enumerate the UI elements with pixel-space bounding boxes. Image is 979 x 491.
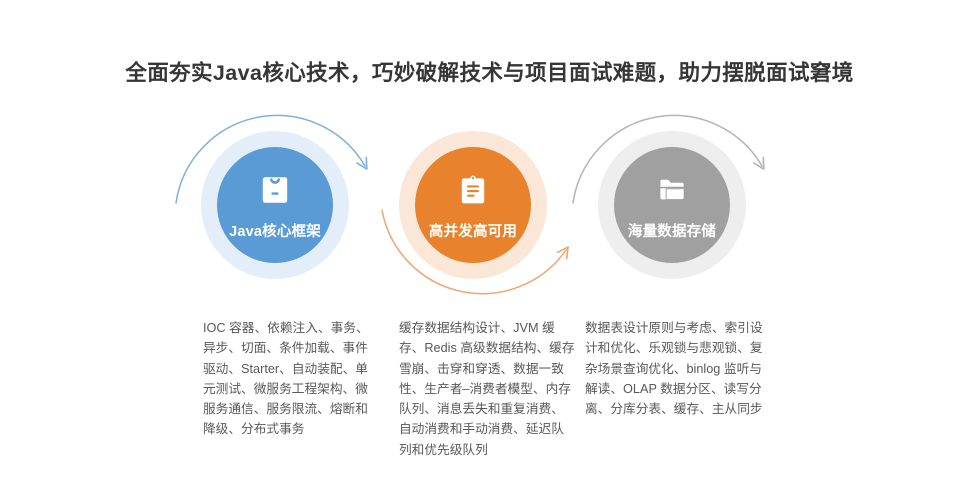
- infographic-canvas: 全面夯实Java核心技术，巧妙破解技术与项目面试难题，助力摆脱面试窘境: [0, 0, 979, 491]
- stage-label: 高并发高可用: [429, 220, 517, 241]
- bag-icon: [262, 175, 288, 205]
- stage-disc: 高并发高可用: [415, 147, 531, 263]
- stage-label: Java核心框架: [229, 220, 321, 241]
- folder-icon: [659, 175, 685, 205]
- stage-disc: Java核心框架: [217, 147, 333, 263]
- stage-node-high-concurrency[interactable]: 高并发高可用: [399, 131, 547, 279]
- stage-node-java-core-framework[interactable]: Java核心框架: [201, 131, 349, 279]
- stage-label: 海量数据存储: [628, 220, 716, 241]
- page-title: 全面夯实Java核心技术，巧妙破解技术与项目面试难题，助力摆脱面试窘境: [0, 56, 979, 87]
- stage-disc: 海量数据存储: [614, 147, 730, 263]
- stage-description-mass-data-storage: 数据表设计原则与考虑、索引设计和优化、乐观锁与悲观锁、复杂场景查询优化、binl…: [585, 318, 771, 419]
- stage-description-high-concurrency: 缓存数据结构设计、JVM 缓存、Redis 高级数据结构、缓存雪崩、击穿和穿透、…: [399, 318, 575, 460]
- clipboard-icon: [460, 175, 486, 205]
- stage-node-mass-data-storage[interactable]: 海量数据存储: [598, 131, 746, 279]
- stage-description-java-core-framework: IOC 容器、依赖注入、事务、异步、切面、条件加载、事件驱动、Starter、自…: [203, 318, 379, 440]
